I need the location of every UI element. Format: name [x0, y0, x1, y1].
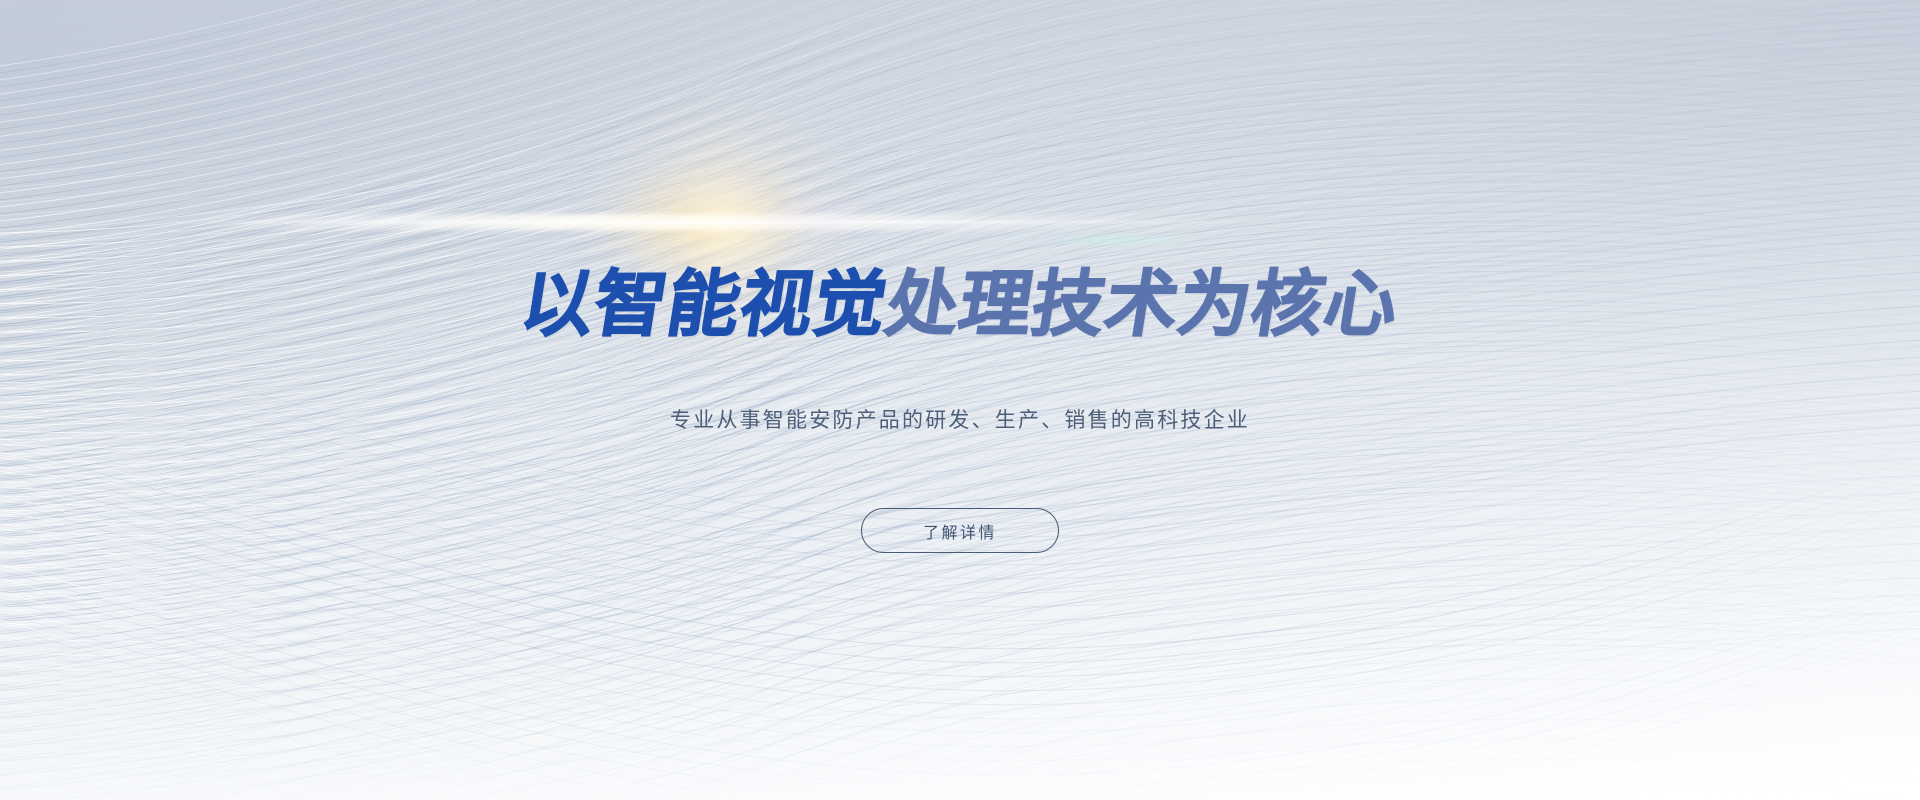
lens-flare-ghost-violet	[752, 184, 872, 244]
hero-banner: 以智能视觉处理技术为核心 专业从事智能安防产品的研发、生产、销售的高科技企业 了…	[0, 0, 1920, 800]
background-wave-lines	[0, 0, 1920, 800]
learn-more-button[interactable]: 了解详情	[861, 508, 1059, 553]
lens-flare-ghost-streak	[1030, 236, 1220, 245]
hero-cta-container: 了解详情	[0, 508, 1920, 553]
hero-headline: 以智能视觉处理技术为核心	[0, 268, 1920, 340]
lens-flare-streak-thin	[103, 221, 1343, 224]
headline-muted-text: 处理技术为核心	[880, 262, 1404, 346]
hero-subtitle: 专业从事智能安防产品的研发、生产、销售的高科技企业	[0, 404, 1920, 434]
headline-accent-text: 以智能视觉	[515, 262, 893, 346]
